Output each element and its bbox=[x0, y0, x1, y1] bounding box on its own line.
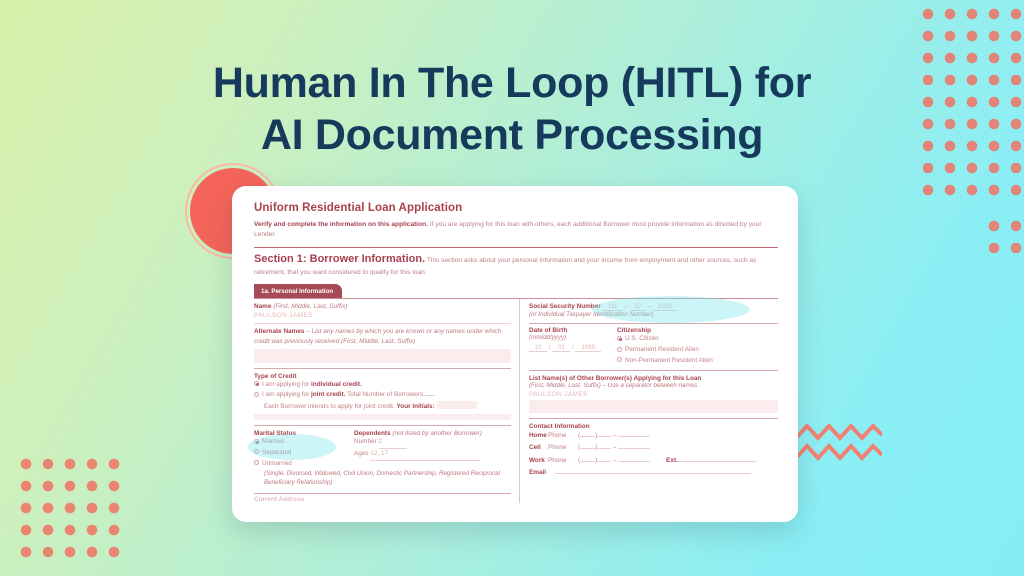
verify-instructions: Verify and complete the information on t… bbox=[254, 220, 778, 239]
email-input[interactable] bbox=[555, 473, 751, 474]
dependents-ages-row[interactable]: Ages 12, 17 bbox=[354, 449, 511, 461]
work-phone-bold: Work bbox=[529, 455, 548, 467]
verify-bold-text: Verify and complete the information on t… bbox=[254, 221, 428, 228]
radio-us-citizen-icon[interactable] bbox=[617, 336, 622, 341]
marital-option-unmarried-label: Unmarried bbox=[262, 460, 292, 467]
credit-initials-pre: Each Borrower intends to apply for joint… bbox=[264, 403, 397, 410]
section1-heading: Section 1: Borrower Information. bbox=[254, 253, 425, 265]
citizenship-option-permanent[interactable]: Permanent Resident Alien bbox=[617, 345, 778, 356]
home-phone-bold: Home bbox=[529, 430, 548, 442]
zigzag-decoration bbox=[796, 424, 882, 472]
cell-phone-line[interactable] bbox=[618, 448, 650, 449]
credit-individual-bold: individual credit. bbox=[311, 381, 362, 388]
dob-block: Date of Birth (mm/dd/yyyy) 10 / 03 / 196… bbox=[529, 327, 617, 366]
marital-option-separated-label: Separated bbox=[262, 449, 292, 456]
citizenship-permanent-label: Permanent Resident Alien bbox=[625, 346, 699, 353]
credit-option-individual[interactable]: I am applying for individual credit. bbox=[254, 380, 511, 391]
email-label: Email bbox=[529, 467, 555, 479]
citizenship-us-label: U.S. Citizen bbox=[625, 335, 659, 342]
ssn-label-text: Social Security Number bbox=[529, 303, 601, 310]
radio-individual-credit-icon[interactable] bbox=[254, 381, 259, 386]
credit-individual-pre: I am applying for bbox=[262, 381, 311, 388]
credit-option-joint[interactable]: I am applying for joint credit. Total Nu… bbox=[254, 390, 511, 401]
ssn-part2[interactable]: 22 bbox=[630, 303, 646, 311]
dob-citizenship-row: Date of Birth (mm/dd/yyyy) 10 / 03 / 196… bbox=[529, 327, 778, 366]
work-phone-row[interactable]: Work Phone() – Ext. bbox=[529, 455, 778, 467]
citizenship-block: Citizenship U.S. Citizen Permanent Resid… bbox=[617, 327, 778, 366]
form-column-left: Name (First, Middle, Last, Suffix) PAULS… bbox=[254, 299, 520, 503]
marital-section-rule bbox=[254, 493, 511, 494]
dot-grid-mid-right bbox=[980, 212, 1024, 262]
home-phone-row[interactable]: Home Phone() – bbox=[529, 430, 778, 442]
citizenship-option-nonpermanent[interactable]: Non-Permanent Resident Alien bbox=[617, 356, 778, 367]
contact-information-label: Contact Information bbox=[529, 423, 778, 430]
cell-phone-prefix[interactable] bbox=[597, 448, 611, 449]
name-field-label: Name (First, Middle, Last, Suffix) bbox=[254, 303, 511, 310]
work-phone-rest: Phone bbox=[548, 455, 578, 467]
citizenship-label: Citizenship bbox=[617, 327, 778, 334]
radio-unmarried-icon[interactable] bbox=[254, 460, 259, 465]
dependents-label: Dependents (not listed by another Borrow… bbox=[354, 430, 511, 437]
radio-joint-credit-icon[interactable] bbox=[254, 392, 259, 397]
credit-joint-pre: I am applying for bbox=[262, 391, 311, 398]
dob-hint: (mm/dd/yyyy) bbox=[529, 334, 617, 341]
marital-status-label: Marital Status bbox=[254, 430, 354, 437]
credit-filler bbox=[254, 414, 511, 420]
credit-initials-bold: Your initials: bbox=[397, 403, 435, 410]
name-label-hint: (First, Middle, Last, Suffix) bbox=[273, 303, 347, 310]
credit-initials-row: Each Borrower intends to apply for joint… bbox=[254, 401, 511, 413]
dob-month[interactable]: 10 bbox=[529, 344, 547, 352]
ssn-part1[interactable]: 111 bbox=[603, 303, 623, 311]
page-title: Human In The Loop (HITL) for AI Document… bbox=[0, 58, 1024, 161]
marital-status-note: (Single, Divorced, Widowed, Civil Union,… bbox=[254, 470, 511, 488]
form-column-right: Social Security Number 111 – 22 – 3333 (… bbox=[520, 299, 778, 503]
home-phone-prefix[interactable] bbox=[597, 436, 611, 437]
other-borrowers-value[interactable]: PAULSON JAMES bbox=[529, 389, 778, 398]
alternate-names-label: Alternate Names – List any names by whic… bbox=[254, 327, 511, 346]
dependents-label-text: Dependents bbox=[354, 430, 391, 437]
citizenship-rule bbox=[529, 370, 778, 371]
dependents-number-label: Number bbox=[354, 438, 377, 445]
dob-value-row[interactable]: 10 / 03 / 1969 bbox=[529, 344, 617, 352]
marital-status-block: Marital Status Married Separated Unmarri… bbox=[254, 430, 354, 469]
dob-year[interactable]: 1969 bbox=[575, 344, 601, 352]
marital-option-married[interactable]: Married bbox=[254, 437, 354, 448]
ssn-field-label: Social Security Number 111 – 22 – 3333 bbox=[529, 303, 778, 311]
dob-label: Date of Birth bbox=[529, 327, 617, 334]
marital-dependents-row: Marital Status Married Separated Unmarri… bbox=[254, 430, 511, 469]
marital-option-separated[interactable]: Separated bbox=[254, 448, 354, 459]
cell-phone-area[interactable] bbox=[580, 448, 595, 449]
dependents-number-row[interactable]: Number 2 bbox=[354, 437, 511, 449]
type-of-credit-label: Type of Credit bbox=[254, 373, 511, 380]
alternate-names-label-text: Alternate Names bbox=[254, 328, 304, 335]
work-phone-line[interactable] bbox=[618, 461, 650, 462]
home-phone-area[interactable] bbox=[580, 436, 595, 437]
email-row[interactable]: Email bbox=[529, 467, 778, 479]
name-label-text: Name bbox=[254, 303, 271, 310]
page-title-line2: AI Document Processing bbox=[0, 110, 1024, 162]
section1-block: Section 1: Borrower Information. This se… bbox=[254, 251, 778, 277]
section-divider bbox=[254, 247, 778, 248]
credit-joint-bold: joint credit. bbox=[311, 391, 345, 398]
dependents-number-value[interactable]: 2 bbox=[379, 437, 407, 449]
ext-label: Ext. bbox=[666, 457, 678, 464]
loan-application-document[interactable]: Uniform Residential Loan Application Ver… bbox=[232, 186, 798, 522]
marital-option-unmarried[interactable]: Unmarried bbox=[254, 459, 354, 470]
credit-section-rule bbox=[254, 425, 511, 426]
ssn-rule bbox=[529, 323, 778, 324]
work-phone-area[interactable] bbox=[580, 461, 595, 462]
radio-permanent-resident-icon[interactable] bbox=[617, 347, 622, 352]
radio-married-icon[interactable] bbox=[254, 439, 259, 444]
other-borrowers-rule bbox=[529, 418, 778, 419]
name-field-rule bbox=[254, 323, 511, 324]
cell-phone-rest: Phone bbox=[548, 442, 578, 454]
radio-separated-icon[interactable] bbox=[254, 449, 259, 454]
home-phone-rest: Phone bbox=[548, 430, 578, 442]
ssn-sublabel: (or Individual Taxpayer Identification N… bbox=[529, 311, 778, 318]
home-phone-line[interactable] bbox=[618, 436, 650, 437]
citizenship-nonpermanent-label: Non-Permanent Resident Alien bbox=[625, 357, 713, 364]
dependents-block: Dependents (not listed by another Borrow… bbox=[354, 430, 511, 469]
dependents-ages-label: Ages bbox=[354, 450, 369, 457]
other-borrowers-label: List Name(s) of Other Borrower(s) Applyi… bbox=[529, 375, 778, 382]
marital-option-married-label: Married bbox=[262, 438, 284, 445]
current-address-label: Current Address bbox=[254, 496, 511, 503]
dependents-hint: (not listed by another Borrower) bbox=[392, 430, 482, 437]
page-title-line1: Human In The Loop (HITL) for bbox=[213, 59, 811, 107]
alternate-names-input[interactable] bbox=[254, 349, 511, 363]
your-initials-input[interactable] bbox=[437, 401, 477, 409]
ssn-part3[interactable]: 3333 bbox=[653, 303, 677, 311]
tab-1a-personal-information[interactable]: 1a. Personal Information bbox=[254, 284, 342, 298]
dob-day[interactable]: 03 bbox=[552, 344, 570, 352]
cell-phone-row[interactable]: Cell Phone() – bbox=[529, 442, 778, 454]
document-title: Uniform Residential Loan Application bbox=[254, 202, 778, 214]
dependents-ages-value[interactable]: 12, 17 bbox=[370, 449, 480, 461]
citizenship-option-us[interactable]: U.S. Citizen bbox=[617, 334, 778, 345]
alternate-names-rule bbox=[254, 368, 511, 369]
total-borrowers-input[interactable] bbox=[425, 395, 435, 396]
name-field-value[interactable]: PAULSON JAMES bbox=[254, 310, 511, 319]
dot-grid-bottom-left bbox=[12, 450, 130, 562]
cell-phone-bold: Cell bbox=[529, 442, 548, 454]
form-columns: Name (First, Middle, Last, Suffix) PAULS… bbox=[254, 299, 778, 503]
radio-nonpermanent-resident-icon[interactable] bbox=[617, 357, 622, 362]
other-borrowers-input[interactable] bbox=[529, 400, 778, 413]
ext-input[interactable] bbox=[678, 461, 756, 462]
credit-joint-post: Total Number of Borrowers: bbox=[345, 391, 424, 398]
other-borrowers-hint: (First, Middle, Last, Suffix) – Use a se… bbox=[529, 382, 778, 389]
work-phone-prefix[interactable] bbox=[597, 461, 611, 462]
